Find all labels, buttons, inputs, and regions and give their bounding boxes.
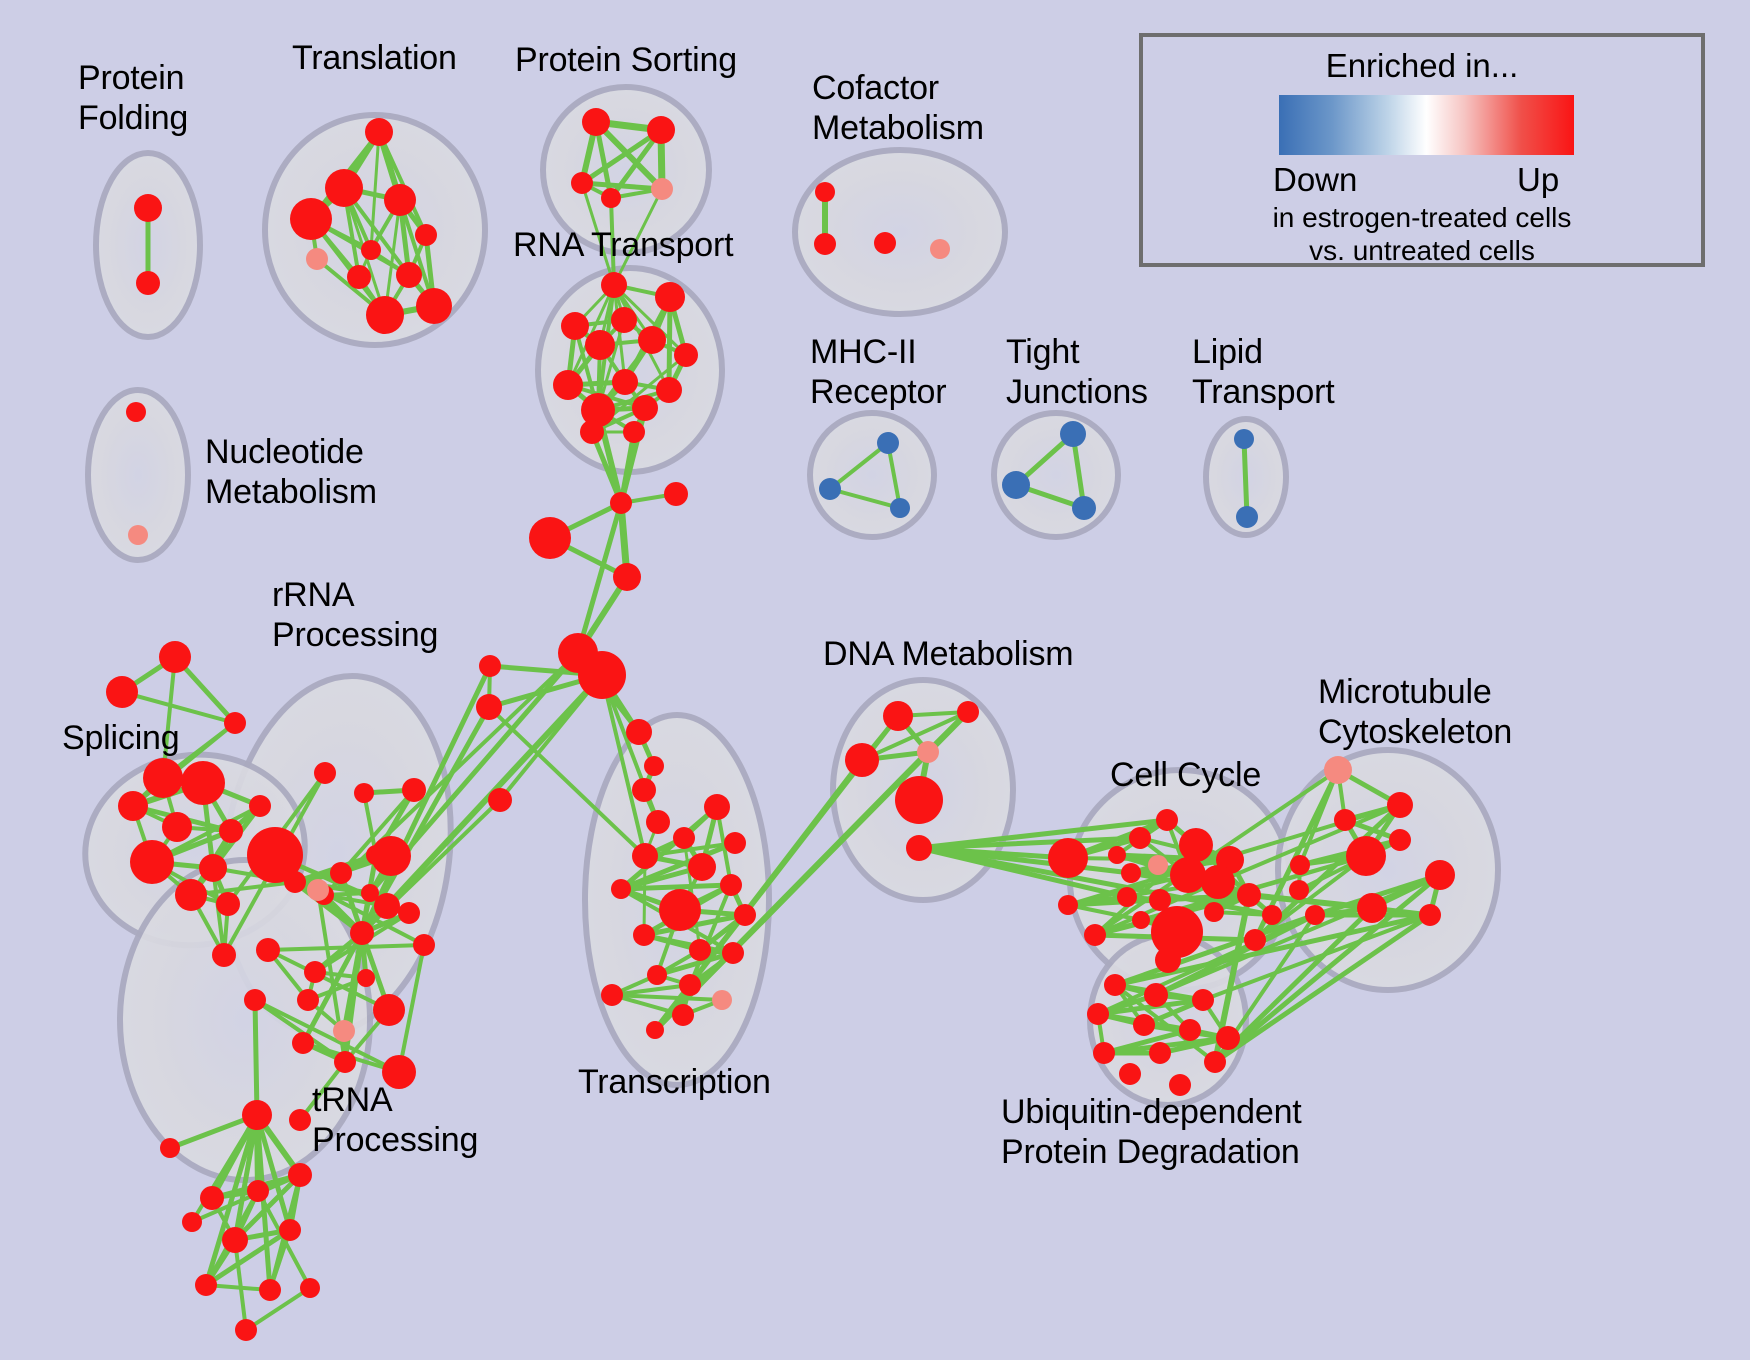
network-node[interactable] — [1048, 838, 1088, 878]
network-node[interactable] — [216, 892, 240, 916]
network-node[interactable] — [815, 182, 835, 202]
legend-title: Enriched in... — [1143, 47, 1701, 85]
network-node[interactable] — [1244, 929, 1266, 951]
network-node[interactable] — [333, 1020, 355, 1042]
network-node[interactable] — [1156, 809, 1178, 831]
network-node[interactable] — [1093, 1042, 1115, 1064]
network-node[interactable] — [1149, 889, 1171, 911]
cluster-label-dna-metabolism: DNA Metabolism — [823, 634, 1073, 674]
network-node[interactable] — [561, 312, 589, 340]
network-node[interactable] — [118, 791, 148, 821]
network-node[interactable] — [1324, 756, 1352, 784]
network-node[interactable] — [601, 984, 623, 1006]
cluster-label-trna-processing: tRNA Processing — [312, 1080, 478, 1160]
network-edge — [235, 1240, 246, 1330]
network-node[interactable] — [1149, 1042, 1171, 1064]
network-node[interactable] — [1262, 905, 1282, 925]
legend-caption-line2: vs. untreated cells — [1143, 235, 1701, 267]
network-node[interactable] — [159, 641, 191, 673]
network-node[interactable] — [289, 1109, 311, 1131]
network-node[interactable] — [1002, 471, 1030, 499]
cluster-label-cell-cycle: Cell Cycle — [1110, 755, 1261, 795]
network-node[interactable] — [1108, 846, 1126, 864]
network-node[interactable] — [712, 990, 732, 1010]
network-node[interactable] — [371, 836, 411, 876]
network-node[interactable] — [582, 108, 610, 136]
network-node[interactable] — [688, 853, 716, 881]
network-node[interactable] — [1425, 860, 1455, 890]
network-node[interactable] — [160, 1138, 180, 1158]
cluster-label-microtubule-cytoskeleton: Microtubule Cytoskeleton — [1318, 672, 1512, 752]
network-node[interactable] — [354, 783, 374, 803]
network-node[interactable] — [611, 879, 631, 899]
network-node[interactable] — [1234, 429, 1254, 449]
network-node[interactable] — [126, 402, 146, 422]
network-node[interactable] — [623, 421, 645, 443]
network-node[interactable] — [1170, 857, 1206, 893]
network-node[interactable] — [1084, 924, 1106, 946]
legend-color-bar — [1279, 95, 1574, 155]
network-node[interactable] — [1132, 911, 1150, 929]
network-node[interactable] — [330, 862, 352, 884]
network-node[interactable] — [300, 1278, 320, 1298]
network-node[interactable] — [957, 701, 979, 723]
network-node[interactable] — [632, 843, 658, 869]
network-node[interactable] — [612, 369, 638, 395]
network-node[interactable] — [1357, 893, 1387, 923]
network-node[interactable] — [1346, 836, 1386, 876]
network-node[interactable] — [130, 840, 174, 884]
network-node[interactable] — [1237, 883, 1261, 907]
network-node[interactable] — [647, 116, 675, 144]
legend-high-label: Up — [1517, 161, 1559, 199]
network-node[interactable] — [1133, 1014, 1155, 1036]
network-node[interactable] — [247, 1180, 269, 1202]
network-node[interactable] — [906, 835, 932, 861]
network-node[interactable] — [704, 794, 730, 820]
network-node[interactable] — [249, 795, 271, 817]
network-node[interactable] — [1387, 792, 1413, 818]
network-node[interactable] — [890, 498, 910, 518]
network-node[interactable] — [1151, 906, 1203, 958]
network-node[interactable] — [644, 756, 664, 776]
network-edge — [1244, 439, 1247, 517]
network-node[interactable] — [734, 904, 756, 926]
network-node[interactable] — [106, 676, 138, 708]
network-node[interactable] — [219, 819, 243, 843]
network-node[interactable] — [212, 943, 236, 967]
network-edge — [255, 1000, 257, 1115]
network-node[interactable] — [195, 1274, 217, 1296]
network-node[interactable] — [1121, 863, 1141, 883]
enrichment-map-figure: Protein FoldingTranslationProtein Sortin… — [0, 0, 1750, 1360]
network-node[interactable] — [917, 741, 939, 763]
network-node[interactable] — [633, 924, 655, 946]
network-node[interactable] — [350, 921, 374, 945]
network-node[interactable] — [1204, 1051, 1226, 1073]
network-node[interactable] — [1290, 855, 1310, 875]
network-node[interactable] — [199, 854, 227, 882]
network-node[interactable] — [143, 758, 183, 798]
network-node[interactable] — [722, 942, 744, 964]
network-node[interactable] — [674, 343, 698, 367]
network-node[interactable] — [601, 272, 627, 298]
network-node[interactable] — [613, 563, 641, 591]
network-node[interactable] — [416, 288, 452, 324]
network-node[interactable] — [314, 762, 336, 784]
network-node[interactable] — [874, 232, 896, 254]
network-node[interactable] — [877, 432, 899, 454]
network-node[interactable] — [679, 974, 701, 996]
network-node[interactable] — [1072, 496, 1096, 520]
cluster-label-splicing: Splicing — [62, 718, 179, 758]
network-node[interactable] — [256, 938, 280, 962]
network-node[interactable] — [1104, 974, 1126, 996]
network-node[interactable] — [325, 169, 363, 207]
network-node[interactable] — [672, 1004, 694, 1026]
network-node[interactable] — [304, 961, 326, 983]
network-node[interactable] — [398, 902, 420, 924]
network-node[interactable] — [1129, 827, 1151, 849]
network-node[interactable] — [720, 874, 742, 896]
network-node[interactable] — [610, 492, 632, 514]
network-node[interactable] — [585, 330, 615, 360]
cluster-label-mhc-ii-receptor: MHC-II Receptor — [810, 332, 946, 412]
network-node[interactable] — [488, 788, 512, 812]
network-node[interactable] — [1236, 506, 1258, 528]
network-node[interactable] — [476, 694, 502, 720]
network-node[interactable] — [306, 248, 328, 270]
network-node[interactable] — [1144, 983, 1168, 1007]
network-node[interactable] — [529, 517, 571, 559]
network-node[interactable] — [646, 1021, 664, 1039]
network-node[interactable] — [244, 989, 266, 1011]
network-node[interactable] — [361, 240, 381, 260]
network-node[interactable] — [1216, 1026, 1240, 1050]
network-node[interactable] — [895, 776, 943, 824]
network-node[interactable] — [601, 188, 621, 208]
network-node[interactable] — [553, 370, 583, 400]
network-node[interactable] — [366, 296, 404, 334]
network-node[interactable] — [1192, 989, 1214, 1011]
cluster-label-transcription: Transcription — [578, 1062, 771, 1102]
network-node[interactable] — [1148, 855, 1168, 875]
network-node[interactable] — [242, 1100, 272, 1130]
network-node[interactable] — [162, 812, 192, 842]
network-node[interactable] — [580, 420, 604, 444]
network-node[interactable] — [1201, 865, 1235, 899]
network-node[interactable] — [651, 178, 673, 200]
cluster-label-tight-junctions: Tight Junctions — [1006, 332, 1148, 412]
legend-box: Enriched in... Down Up in estrogen-treat… — [1139, 33, 1705, 267]
network-node[interactable] — [1179, 828, 1213, 862]
cluster-label-nucleotide-metabolism: Nucleotide Metabolism — [205, 432, 377, 512]
network-node[interactable] — [357, 969, 375, 987]
network-node[interactable] — [128, 525, 148, 545]
network-node[interactable] — [1389, 829, 1411, 851]
network-node[interactable] — [655, 282, 685, 312]
network-node[interactable] — [883, 701, 913, 731]
network-node[interactable] — [297, 989, 319, 1011]
network-node[interactable] — [413, 934, 435, 956]
network-node[interactable] — [347, 265, 371, 289]
legend-caption-line1: in estrogen-treated cells — [1143, 202, 1701, 234]
network-node[interactable] — [1117, 887, 1137, 907]
network-node[interactable] — [1060, 421, 1086, 447]
cluster-label-translation: Translation — [292, 38, 457, 78]
cluster-ellipse-mhc-ii-receptor[interactable] — [810, 413, 934, 537]
network-node[interactable] — [182, 1212, 202, 1232]
network-node[interactable] — [288, 1163, 312, 1187]
network-node[interactable] — [136, 271, 160, 295]
cluster-label-cofactor-metabolism: Cofactor Metabolism — [812, 68, 984, 148]
network-node[interactable] — [290, 198, 332, 240]
network-node[interactable] — [664, 482, 688, 506]
legend-low-label: Down — [1273, 161, 1357, 199]
network-node[interactable] — [1334, 809, 1356, 831]
network-node[interactable] — [638, 326, 666, 354]
network-node[interactable] — [1419, 904, 1441, 926]
network-node[interactable] — [632, 778, 656, 802]
cluster-label-lipid-transport: Lipid Transport — [1192, 332, 1334, 412]
network-node[interactable] — [646, 810, 670, 834]
network-node[interactable] — [611, 307, 637, 333]
network-node[interactable] — [292, 1032, 314, 1054]
network-node[interactable] — [396, 262, 422, 288]
network-node[interactable] — [647, 965, 667, 985]
network-node[interactable] — [1155, 947, 1181, 973]
cluster-label-ubiquitin-protein-degradation: Ubiquitin-dependent Protein Degradation — [1001, 1092, 1302, 1172]
network-node[interactable] — [673, 827, 695, 849]
network-node[interactable] — [279, 1219, 301, 1241]
network-node[interactable] — [814, 233, 836, 255]
network-node[interactable] — [930, 239, 950, 259]
network-node[interactable] — [845, 743, 879, 777]
network-node[interactable] — [1305, 905, 1325, 925]
network-node[interactable] — [578, 651, 626, 699]
network-node[interactable] — [307, 879, 329, 901]
network-node[interactable] — [819, 478, 841, 500]
network-node[interactable] — [224, 712, 246, 734]
network-node[interactable] — [200, 1186, 224, 1210]
network-node[interactable] — [1179, 1019, 1201, 1041]
network-node[interactable] — [1204, 902, 1224, 922]
network-node[interactable] — [1119, 1063, 1141, 1085]
cluster-label-protein-folding: Protein Folding — [78, 58, 188, 138]
network-node[interactable] — [402, 778, 426, 802]
network-node[interactable] — [365, 118, 393, 146]
network-node[interactable] — [222, 1227, 248, 1253]
network-node[interactable] — [724, 832, 746, 854]
network-node[interactable] — [373, 994, 405, 1026]
network-node[interactable] — [247, 827, 303, 883]
network-node[interactable] — [479, 655, 501, 677]
network-node[interactable] — [571, 172, 593, 194]
cluster-label-protein-sorting: Protein Sorting — [515, 40, 737, 80]
network-node[interactable] — [632, 395, 658, 421]
network-node[interactable] — [689, 939, 711, 961]
cluster-label-rna-transport: RNA Transport — [513, 225, 733, 265]
network-node[interactable] — [415, 224, 437, 246]
network-node[interactable] — [626, 719, 652, 745]
network-node[interactable] — [656, 377, 682, 403]
network-node[interactable] — [334, 1051, 356, 1073]
cluster-label-rrna-processing: rRNA Processing — [272, 575, 438, 655]
network-node[interactable] — [181, 761, 225, 805]
network-node[interactable] — [384, 184, 416, 216]
network-node[interactable] — [134, 194, 162, 222]
network-node[interactable] — [1087, 1003, 1109, 1025]
network-node[interactable] — [175, 879, 207, 911]
network-node[interactable] — [259, 1279, 281, 1301]
network-node[interactable] — [1289, 880, 1309, 900]
network-node[interactable] — [235, 1319, 257, 1341]
network-node[interactable] — [374, 893, 400, 919]
network-node[interactable] — [659, 889, 701, 931]
network-node[interactable] — [1058, 895, 1078, 915]
